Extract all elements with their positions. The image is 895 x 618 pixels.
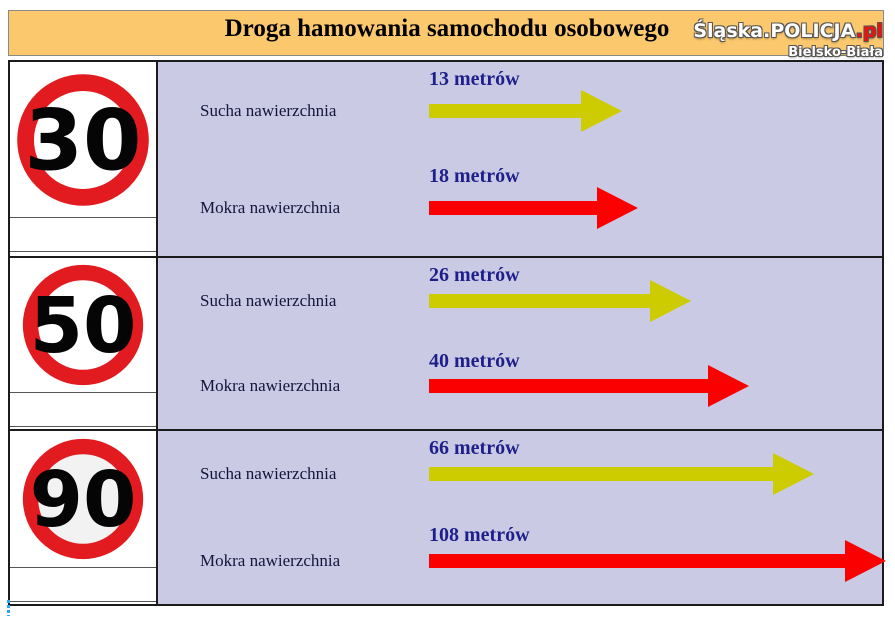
speed-limit-sign-icon: 50 <box>19 261 147 389</box>
sign-cell-footer-30 <box>10 218 156 252</box>
data-table: 30 Sucha nawierzchnia 13 metrów <box>8 60 884 606</box>
surface-label: Mokra nawierzchnia <box>200 376 340 396</box>
page-title: Droga hamowania samochodu osobowego <box>9 15 885 43</box>
table-row: Mokra nawierzchnia 40 metrów <box>158 344 882 430</box>
table-row: Mokra nawierzchnia 18 metrów <box>158 159 882 256</box>
sign-cell-footer-50 <box>10 393 156 427</box>
sign-inner-50: 50 <box>10 258 156 393</box>
sign-inner-90: 90 <box>10 431 156 568</box>
speed-limit-sign-icon: 30 <box>13 70 153 210</box>
distance-arrow-dry <box>429 280 691 322</box>
infographic-braking-distance: Droga hamowania samochodu osobowego Śląs… <box>0 0 895 618</box>
surface-label: Sucha nawierzchnia <box>200 291 336 311</box>
sign-inner-30: 30 <box>10 62 156 218</box>
panel-50: Sucha nawierzchnia 26 metrów Mokra nawie… <box>158 258 882 429</box>
sign-cell-50: 50 <box>10 258 158 429</box>
panel-30: Sucha nawierzchnia 13 metrów Mokra nawie… <box>158 62 882 256</box>
sign-cell-footer-90 <box>10 568 156 602</box>
table-row: Sucha nawierzchnia 13 metrów <box>158 62 882 159</box>
surface-label: Mokra nawierzchnia <box>200 551 340 571</box>
sign-cell-90: 90 <box>10 431 158 604</box>
cell-selection-marker <box>7 600 10 616</box>
panel-90: Sucha nawierzchnia 66 metrów Mokra nawie… <box>158 431 882 604</box>
distance-label: 13 metrów <box>429 68 520 91</box>
surface-label: Mokra nawierzchnia <box>200 198 340 218</box>
distance-arrow-wet <box>429 187 638 229</box>
speed-limit-sign-icon: 90 <box>19 435 147 563</box>
table-row: Mokra nawierzchnia 108 metrów <box>158 518 882 605</box>
surface-label: Sucha nawierzchnia <box>200 464 336 484</box>
speed-group-30: 30 Sucha nawierzchnia 13 metrów <box>10 62 882 256</box>
distance-label: 18 metrów <box>429 165 520 188</box>
speed-group-50: 50 Sucha nawierzchnia 26 metrów <box>10 256 882 429</box>
header-bar: Droga hamowania samochodu osobowego <box>8 10 884 56</box>
table-row: Sucha nawierzchnia 66 metrów <box>158 431 882 518</box>
speed-group-90: 90 Sucha nawierzchnia 66 metrów <box>10 429 882 604</box>
sign-number: 90 <box>30 456 137 545</box>
sign-number: 50 <box>30 282 137 371</box>
surface-label: Sucha nawierzchnia <box>200 101 336 121</box>
distance-arrow-dry <box>429 90 622 132</box>
distance-arrow-wet <box>429 365 749 407</box>
distance-arrow-wet <box>429 540 886 582</box>
sign-number: 30 <box>25 91 142 189</box>
distance-arrow-dry <box>429 453 814 495</box>
table-row: Sucha nawierzchnia 26 metrów <box>158 258 882 344</box>
sign-cell-30: 30 <box>10 62 158 256</box>
